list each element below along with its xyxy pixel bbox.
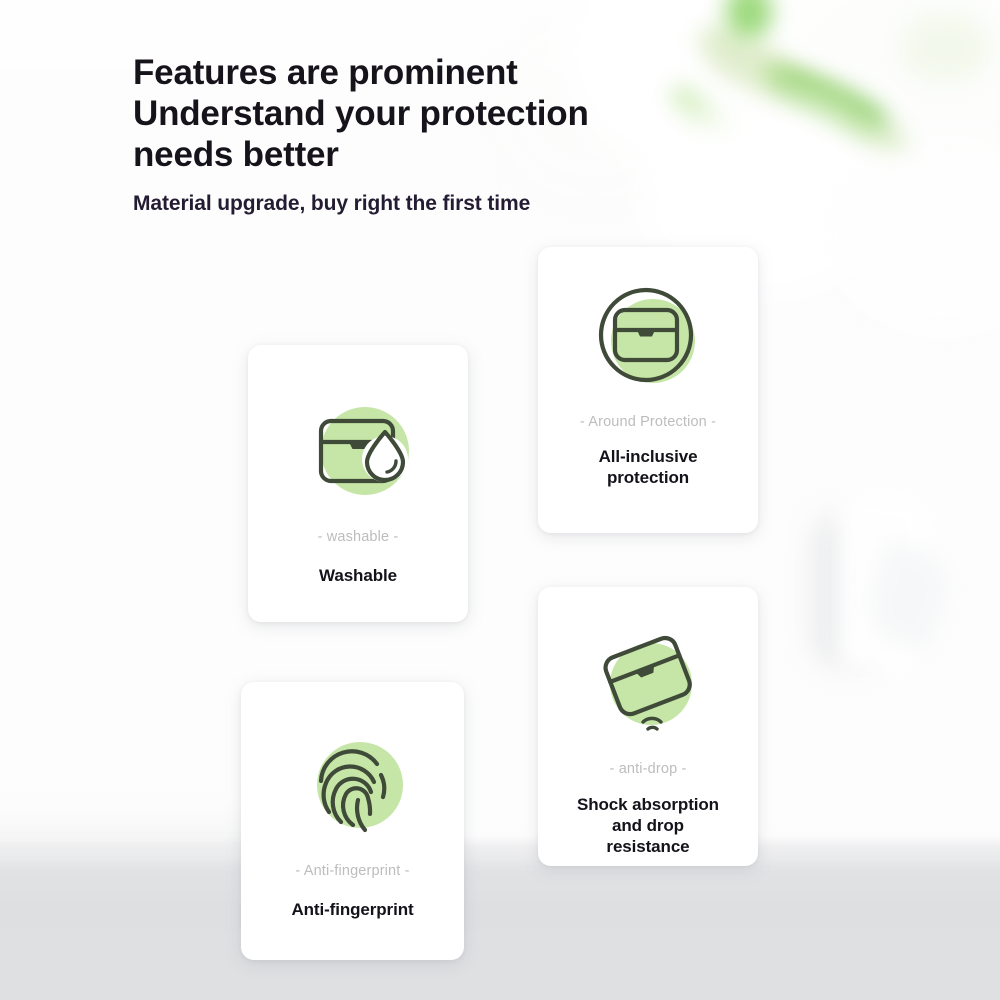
card-tagline: - Around Protection -	[580, 414, 716, 430]
case-with-water-drop-icon	[293, 395, 423, 507]
feature-card-washable[interactable]: - washable - Washable	[248, 345, 468, 622]
card-title-line-3: resistance	[606, 837, 689, 856]
headline-block: Features are prominent Understand your p…	[133, 52, 589, 216]
case-in-circle-icon	[583, 282, 713, 394]
card-title-line-1: Shock absorption	[577, 795, 719, 814]
card-title-line-1: All-inclusive	[599, 447, 698, 466]
feature-card-anti-fingerprint[interactable]: - Anti-fingerprint - Anti-fingerprint	[241, 682, 464, 960]
feature-card-all-inclusive[interactable]: - Around Protection - All-inclusive prot…	[538, 247, 758, 533]
subtitle: Material upgrade, buy right the first ti…	[133, 192, 589, 216]
card-tagline: - washable -	[318, 529, 399, 545]
card-tagline: - anti-drop -	[610, 761, 687, 777]
fingerprint-icon	[288, 729, 418, 841]
card-title-line-2: protection	[607, 468, 689, 487]
card-title: All-inclusive protection	[599, 446, 698, 488]
headline-line-2: Understand your protection	[133, 93, 589, 134]
headline-line-1: Features are prominent	[133, 52, 589, 93]
card-tagline: - Anti-fingerprint -	[295, 863, 409, 879]
card-title: Washable	[319, 565, 397, 586]
card-title-line-2: and drop	[612, 816, 684, 835]
card-title: Anti-fingerprint	[291, 899, 413, 920]
feature-card-anti-drop[interactable]: - anti-drop - Shock absorption and drop …	[538, 587, 758, 866]
headline-line-3: needs better	[133, 134, 589, 175]
tilted-case-with-impact-waves-icon	[583, 627, 713, 739]
card-title: Shock absorption and drop resistance	[577, 794, 719, 857]
